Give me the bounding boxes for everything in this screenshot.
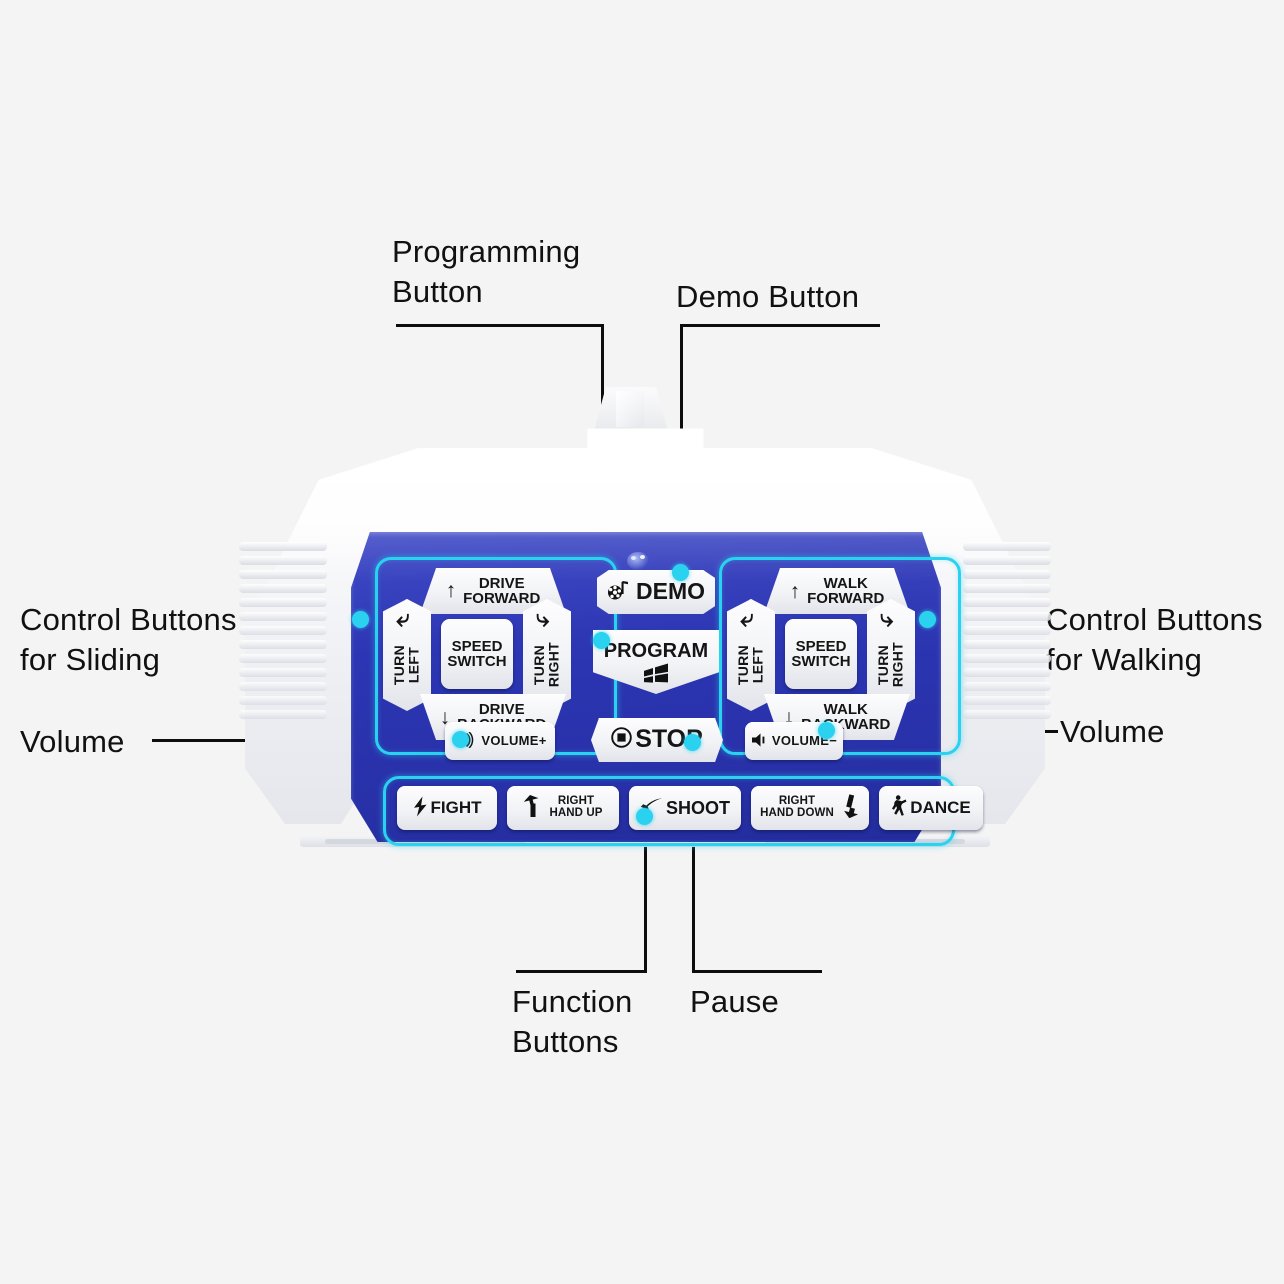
arrow-up-icon: ↑ — [446, 580, 457, 601]
side-grille-left — [239, 542, 327, 727]
turn-right-icon: ⤷ — [536, 607, 549, 631]
speaker-quiet-icon — [751, 732, 767, 750]
windows-flag-icon — [643, 663, 670, 688]
anchor-dot-stop — [684, 734, 701, 751]
ir-led-indicator — [627, 552, 649, 570]
anchor-dot-volume-up — [452, 731, 469, 748]
anchor-dot-walking — [919, 611, 936, 628]
dancer-icon — [891, 795, 908, 821]
turn-left-icon: ⤷ — [396, 607, 409, 631]
anchor-dot-volume-down — [818, 722, 835, 739]
callout-programming-button: Programming Button — [392, 232, 580, 311]
turn-right-icon: ⤷ — [880, 607, 893, 631]
stop-square-icon — [611, 727, 632, 754]
arrow-hand-down-icon — [840, 794, 860, 822]
leader-demo-h — [680, 324, 880, 327]
antenna-nub — [594, 387, 668, 431]
button-fight[interactable]: FIGHT — [397, 786, 497, 830]
anchor-dot-program — [593, 632, 610, 649]
callout-control-walking: Control Buttons for Walking — [1046, 600, 1263, 679]
button-dance[interactable]: DANCE — [879, 786, 983, 830]
callout-volume-right: Volume — [1060, 712, 1165, 752]
button-right-hand-down[interactable]: RIGHT HAND DOWN — [751, 786, 869, 830]
button-stop[interactable]: STOP — [591, 718, 723, 762]
leader-programming-h — [396, 324, 604, 327]
callout-function-buttons: Function Buttons — [512, 982, 633, 1061]
leader-function-h — [516, 970, 647, 973]
anchor-dot-function — [636, 808, 653, 825]
button-right-hand-up[interactable]: RIGHT HAND UP — [507, 786, 619, 830]
side-grille-right — [963, 542, 1051, 727]
button-slide-speed-switch[interactable]: SPEED SWITCH — [441, 619, 513, 689]
button-walk-speed-switch[interactable]: SPEED SWITCH — [785, 619, 857, 689]
anchor-dot-sliding — [352, 611, 369, 628]
callout-volume-left: Volume — [20, 722, 125, 762]
arrow-hand-up-icon — [523, 794, 543, 822]
callout-demo-button: Demo Button — [676, 277, 859, 317]
callout-pause: Pause — [690, 982, 779, 1022]
anchor-dot-demo — [672, 564, 689, 581]
leader-pause-h — [692, 970, 822, 973]
turn-left-icon: ⤷ — [740, 607, 753, 631]
callout-control-sliding: Control Buttons for Sliding — [20, 600, 237, 679]
button-demo[interactable]: DEMO — [597, 570, 715, 614]
film-reel-note-icon — [607, 580, 631, 605]
arrow-up-dashed-icon: ↑ — [790, 581, 801, 602]
lightning-bolt-icon — [413, 796, 428, 821]
